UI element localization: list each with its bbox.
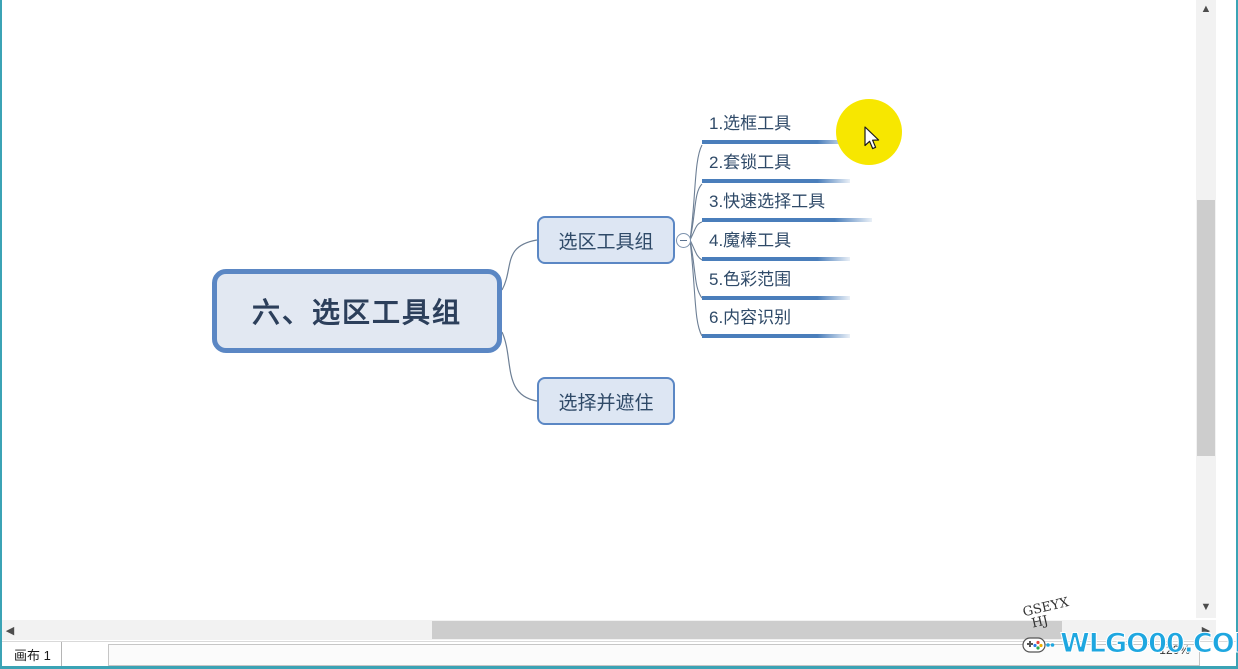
tab-bar-empty-area[interactable]	[108, 644, 1200, 666]
mindmap-canvas[interactable]: 六、选区工具组 选区工具组 选择并遮住 1.选框工具 2.套锁工具 3.快速选择…	[2, 0, 1218, 618]
connector-lines	[2, 0, 1218, 618]
scroll-up-arrow-icon[interactable]: ▲	[1196, 0, 1216, 18]
canvas-tab[interactable]: 画布 1	[4, 642, 62, 666]
vertical-scrollbar-thumb[interactable]	[1197, 200, 1215, 456]
leaf-item-6-underline	[702, 334, 850, 338]
mindmap-leaf-item-2[interactable]: 2.套锁工具	[702, 151, 850, 183]
leaf-item-2-underline	[702, 179, 850, 183]
mindmap-leaf-item-1[interactable]: 1.选框工具	[702, 112, 850, 144]
scroll-left-arrow-icon[interactable]: ◀	[2, 620, 18, 640]
leaf-item-2-label: 2.套锁工具	[702, 151, 791, 175]
collapse-minus-icon[interactable]	[676, 233, 691, 248]
mindmap-branch-node-2[interactable]: 选择并遮住	[537, 377, 675, 425]
arrow-cursor-icon	[864, 126, 882, 152]
mindmap-application-window: 六、选区工具组 选区工具组 选择并遮住 1.选框工具 2.套锁工具 3.快速选择…	[0, 0, 1238, 669]
branch-node-2-label: 选择并遮住	[558, 388, 653, 415]
leaf-item-5-label: 5.色彩范围	[702, 268, 791, 292]
canvas-tab-label: 画布 1	[14, 645, 51, 664]
bottom-tab-bar: 画布 1	[2, 641, 1236, 666]
leaf-item-1-underline	[702, 140, 850, 144]
mindmap-leaf-item-4[interactable]: 4.魔棒工具	[702, 229, 850, 261]
horizontal-scrollbar-thumb[interactable]	[432, 621, 1062, 639]
mindmap-leaf-item-3[interactable]: 3.快速选择工具	[702, 190, 872, 222]
leaf-item-5-underline	[702, 296, 850, 300]
leaf-item-4-underline	[702, 257, 850, 261]
leaf-item-6-label: 6.内容识别	[702, 306, 791, 330]
mindmap-leaf-item-5[interactable]: 5.色彩范围	[702, 268, 850, 300]
leaf-item-4-label: 4.魔棒工具	[702, 229, 791, 253]
leaf-item-3-label: 3.快速选择工具	[702, 190, 825, 214]
leaf-item-1-label: 1.选框工具	[702, 112, 791, 136]
mindmap-root-node[interactable]: 六、选区工具组	[212, 269, 502, 353]
scroll-down-arrow-icon[interactable]: ▼	[1196, 598, 1216, 616]
mindmap-branch-node-1[interactable]: 选区工具组	[537, 216, 675, 264]
branch-node-1-label: 选区工具组	[558, 227, 653, 254]
zoom-level-status: 120%	[1159, 643, 1190, 657]
leaf-item-3-underline	[702, 218, 872, 222]
root-node-label: 六、选区工具组	[252, 291, 462, 331]
scroll-right-arrow-icon[interactable]: ▶	[1198, 620, 1214, 640]
mindmap-leaf-item-6[interactable]: 6.内容识别	[702, 306, 850, 338]
